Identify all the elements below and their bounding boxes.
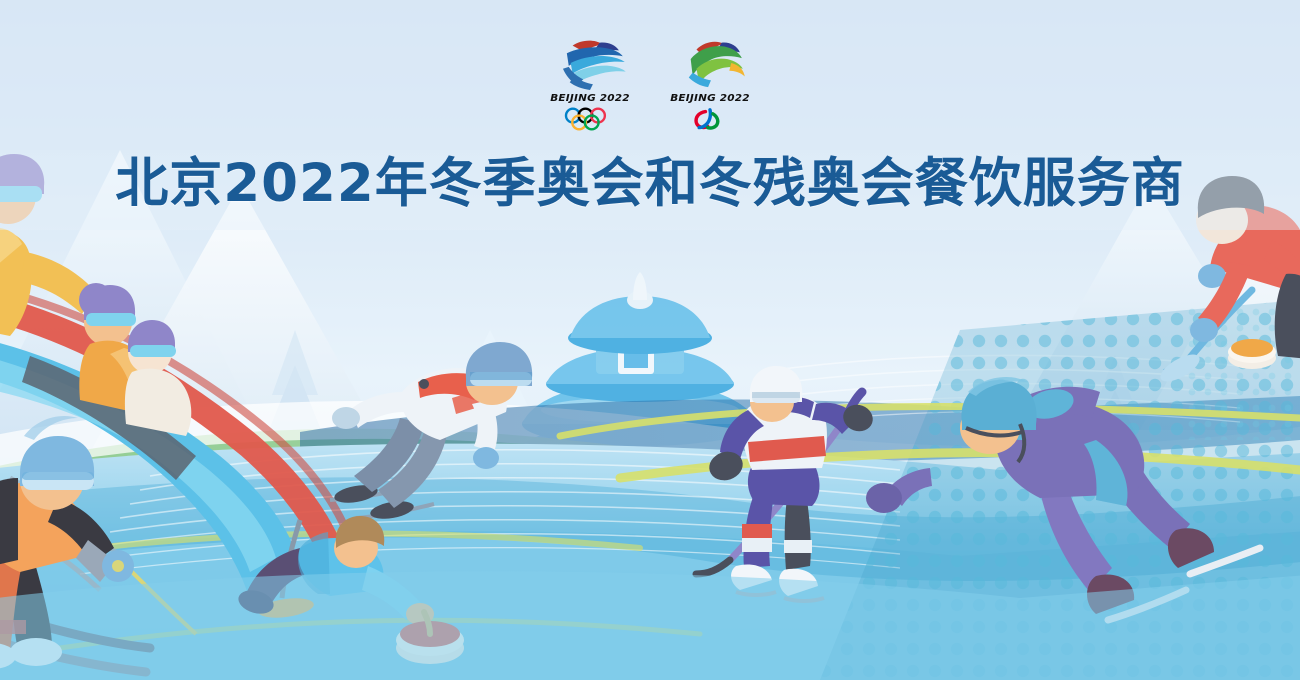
- page-title: 北京2022年冬季奥会和冬残奥会餐饮服务商: [0, 141, 1300, 217]
- olympic-emblem-block: BEIJING 2022: [544, 34, 636, 131]
- olympic-rings-icon: [560, 107, 620, 131]
- paralympic-agitos-icon: [680, 107, 740, 131]
- curling-stone-2: [1228, 339, 1276, 369]
- beijing-2022-catering-partner-banner: BEIJING 2022 BEIJING 2022: [0, 0, 1300, 680]
- beijing-2022-winter-paralympics-emblem-icon: [671, 34, 749, 90]
- olympic-wordmark: BEIJING 2022: [550, 92, 630, 103]
- paralympic-emblem-block: BEIJING 2022: [664, 34, 756, 131]
- emblem-row: BEIJING 2022 BEIJING 2022: [0, 34, 1300, 131]
- beijing-2022-winter-olympics-emblem-icon: [551, 34, 629, 90]
- paralympic-wordmark: BEIJING 2022: [670, 92, 750, 103]
